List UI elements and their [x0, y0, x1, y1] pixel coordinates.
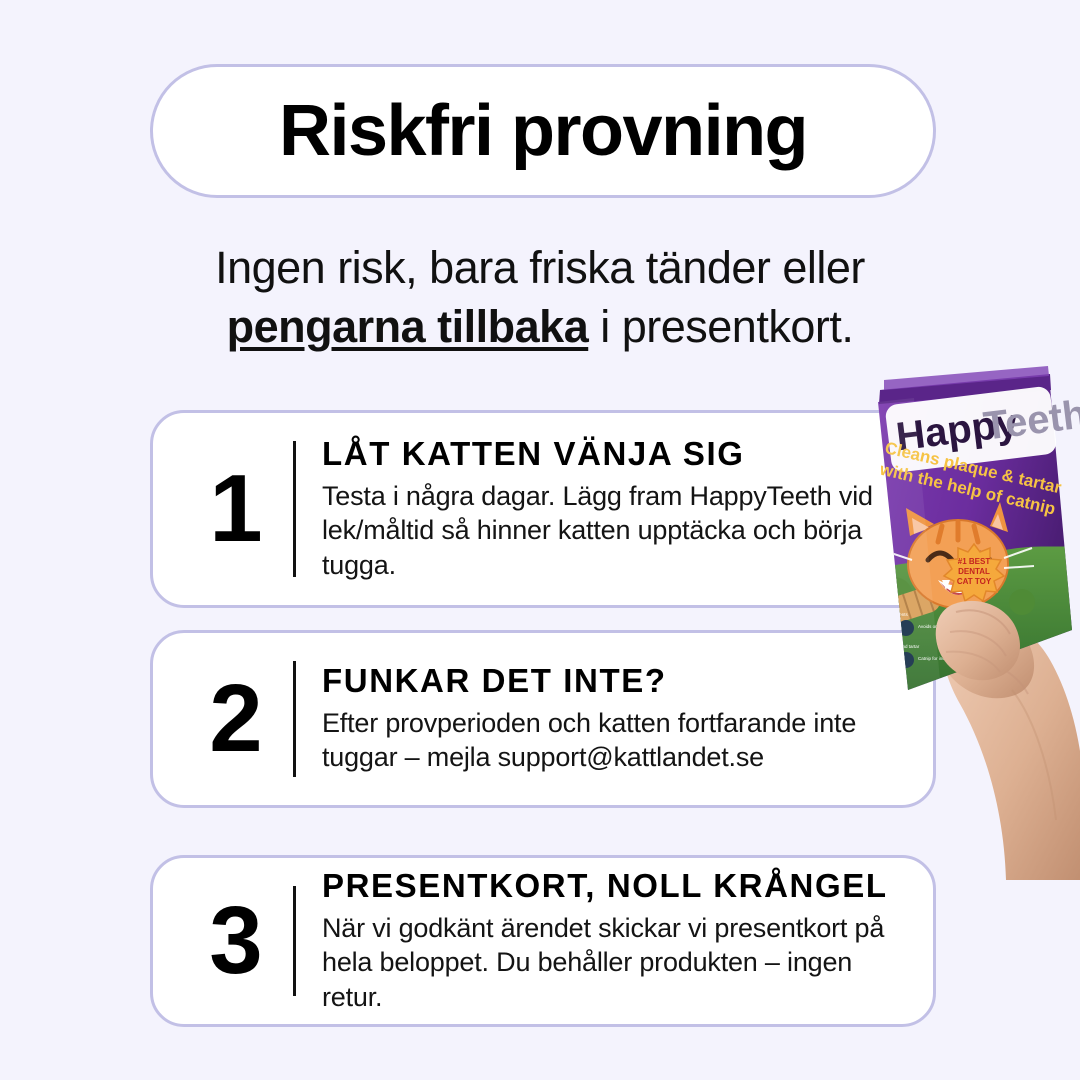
page-title: Riskfri provning: [279, 95, 807, 167]
brand-name-teeth: Teeth: [981, 392, 1080, 448]
step-card-3: 3 PRESENTKORT, NOLL KRÅNGEL När vi godkä…: [150, 855, 936, 1027]
subtitle-highlight: pengarna tillbaka: [227, 301, 589, 352]
step-number-1: 1: [187, 461, 283, 557]
step-card-1: 1 LÅT KATTEN VÄNJA SIG Testa i några dag…: [150, 410, 936, 608]
step-heading-1: LÅT KATTEN VÄNJA SIG: [322, 436, 903, 473]
hand-arm-illustration: [935, 603, 1080, 880]
badge-line-3: CAT TOY: [957, 577, 992, 586]
subtitle: Ingen risk, bara friska tänder eller pen…: [0, 238, 1080, 357]
hand-fingers: [936, 601, 1020, 680]
page-title-container: Riskfri provning: [150, 64, 936, 198]
step-text-3: När vi godkänt ärendet skickar vi presen…: [322, 911, 903, 1015]
step-heading-2: FUNKAR DET INTE?: [322, 663, 903, 700]
subtitle-line-2: pengarna tillbaka i presentkort.: [0, 297, 1080, 356]
step-body-3: PRESENTKORT, NOLL KRÅNGEL När vi godkänt…: [322, 868, 903, 1015]
step-body-1: LÅT KATTEN VÄNJA SIG Testa i några dagar…: [322, 436, 903, 583]
subtitle-line-1: Ingen risk, bara friska tänder eller: [0, 238, 1080, 297]
step-text-1: Testa i några dagar. Lägg fram HappyTeet…: [322, 479, 903, 583]
badge-line-2: DENTAL: [958, 567, 990, 576]
badge-line-1: #1 BEST: [958, 557, 991, 566]
step-card-2: 2 FUNKAR DET INTE? Efter provperioden oc…: [150, 630, 936, 808]
step-divider-1: [293, 441, 296, 577]
subtitle-line-2-rest: i presentkort.: [588, 301, 853, 352]
best-seller-badge: #1 BEST DENTAL CAT TOY: [944, 544, 1004, 601]
step-number-2: 2: [187, 671, 283, 767]
step-divider-3: [293, 886, 296, 996]
step-text-2: Efter provperioden och katten fortfarand…: [322, 706, 903, 775]
step-heading-3: PRESENTKORT, NOLL KRÅNGEL: [322, 868, 903, 905]
feature-1-label: Natural ingredients: [870, 612, 909, 617]
feature-2-label: Avoids oral discomfort: [918, 624, 963, 629]
step-number-3: 3: [187, 893, 283, 989]
step-divider-2: [293, 661, 296, 777]
step-body-2: FUNKAR DET INTE? Efter provperioden och …: [322, 663, 903, 775]
